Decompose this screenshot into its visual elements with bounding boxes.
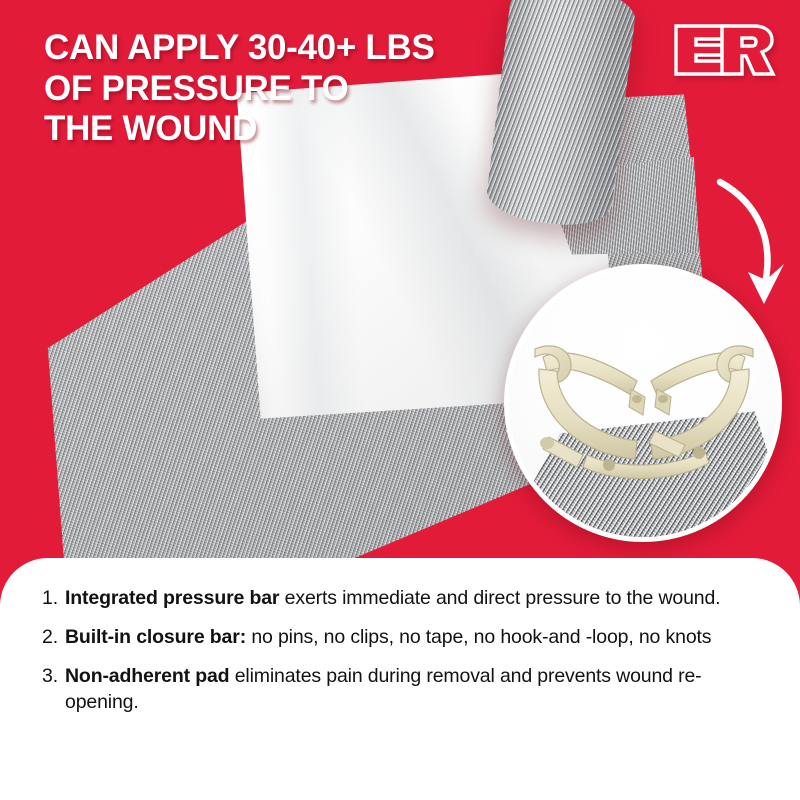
list-item: 1. Integrated pressure bar exerts immedi… xyxy=(34,586,766,612)
list-item-rest: exerts immediate and direct pressure to … xyxy=(279,587,720,609)
list-item-rest: no pins, no clips, no tape, no hook-and … xyxy=(246,626,711,648)
list-item-text: Non-adherent pad eliminates pain during … xyxy=(65,664,766,716)
list-item-bold: Integrated pressure bar xyxy=(65,587,279,609)
list-item-bold: Built-in closure bar: xyxy=(65,626,246,648)
list-item-number: 3. xyxy=(34,664,58,690)
headline-line-3: THE WOUND xyxy=(44,109,514,150)
er-logo-letter-e xyxy=(676,26,728,74)
er-logo xyxy=(670,18,778,80)
headline-line-1: CAN APPLY 30-40+ lbs xyxy=(44,28,514,69)
headline-line-2: OF PRESSURE TO xyxy=(44,69,514,110)
er-logo-letter-r xyxy=(722,26,773,74)
list-item-text: Built-in closure bar: no pins, no clips,… xyxy=(65,625,766,651)
list-item: 3. Non-adherent pad eliminates pain duri… xyxy=(34,664,766,716)
list-item-number: 2. xyxy=(34,625,58,651)
list-item-text: Integrated pressure bar exerts immediate… xyxy=(65,586,766,612)
features-card: 1. Integrated pressure bar exerts immedi… xyxy=(0,558,800,800)
list-item-number: 1. xyxy=(34,586,58,612)
list-item-bold: Non-adherent pad xyxy=(65,665,229,687)
closure-bar-graphic xyxy=(509,269,777,537)
list-item: 2. Built-in closure bar: no pins, no cli… xyxy=(34,625,766,651)
page-title: CAN APPLY 30-40+ lbs OF PRESSURE TO THE … xyxy=(44,28,514,150)
features-list: 1. Integrated pressure bar exerts immedi… xyxy=(0,558,800,716)
closure-bar-inset xyxy=(504,264,782,542)
product-feature-poster: CAN APPLY 30-40+ lbs OF PRESSURE TO THE … xyxy=(0,0,800,800)
